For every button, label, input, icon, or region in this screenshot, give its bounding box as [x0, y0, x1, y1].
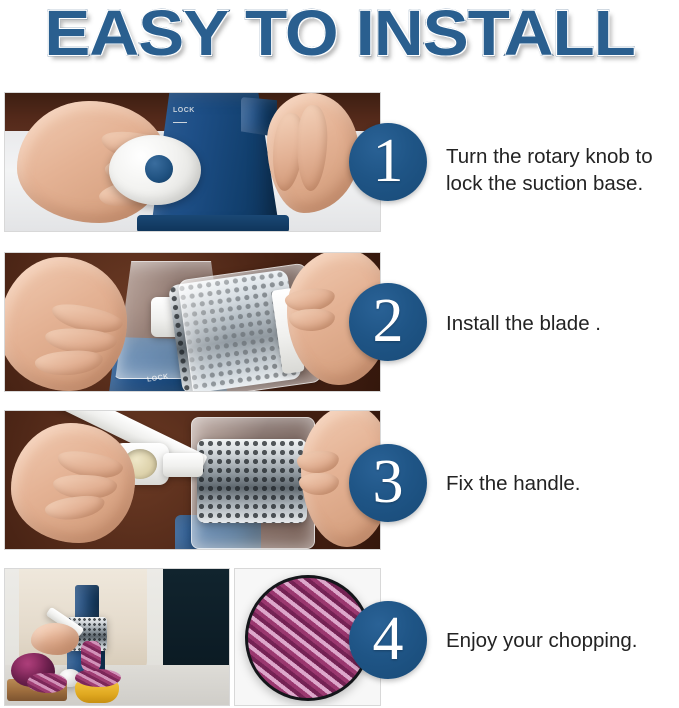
step-photo-3	[4, 410, 381, 550]
step-row-4: 4 Enjoy your chopping.	[0, 568, 679, 706]
base-ring	[137, 215, 289, 231]
step-caption-1: Turn the rotary knob to lock the suction…	[446, 143, 679, 197]
photo-scene-fix-handle	[5, 411, 380, 549]
drum-shaft	[163, 453, 203, 477]
step-caption-2: Install the blade .	[446, 310, 679, 337]
background-panel-dark	[163, 569, 229, 673]
hand-operating	[31, 623, 79, 655]
drum-perforations	[197, 439, 307, 523]
lock-arrow-icon	[173, 117, 187, 123]
chopper-hopper	[75, 585, 99, 621]
photo-scene-install-blade: LOCK	[5, 253, 380, 391]
knob-center-dot	[145, 155, 173, 183]
step-photo-4-left	[4, 568, 230, 706]
lock-label-1: LOCK	[173, 107, 195, 114]
photo-scene-chopping	[5, 569, 229, 705]
step-number-badge-2: 2	[349, 283, 427, 361]
step-number-3: 3	[373, 451, 404, 513]
cabbage-shreds-bowl	[75, 669, 121, 687]
photo-scene-turn-knob: LOCK	[5, 93, 380, 231]
step-number-4: 4	[373, 608, 404, 670]
step-photo-1: LOCK	[4, 92, 381, 232]
step-number-badge-1: 1	[349, 123, 427, 201]
page-title: EASY TO INSTALL	[0, 0, 679, 68]
step-row-3: 3 Fix the handle.	[0, 410, 679, 550]
cabbage-shreds-board	[27, 673, 67, 693]
step-number-badge-4: 4	[349, 601, 427, 679]
headline-banner: EASY TO INSTALL	[0, 0, 679, 80]
drum-blade	[197, 439, 307, 523]
step-number-1: 1	[373, 130, 404, 192]
step-row-2: LOCK 2 Install the blade .	[0, 252, 679, 392]
step-number-badge-3: 3	[349, 444, 427, 522]
cabbage-shreds-falling	[81, 641, 101, 671]
step-caption-3: Fix the handle.	[446, 470, 679, 497]
step-number-2: 2	[373, 290, 404, 352]
step-row-1: LOCK 1 Turn the rotary knob to lock the …	[0, 92, 679, 232]
step-photo-2: LOCK	[4, 252, 381, 392]
step-caption-4: Enjoy your chopping.	[446, 627, 679, 654]
